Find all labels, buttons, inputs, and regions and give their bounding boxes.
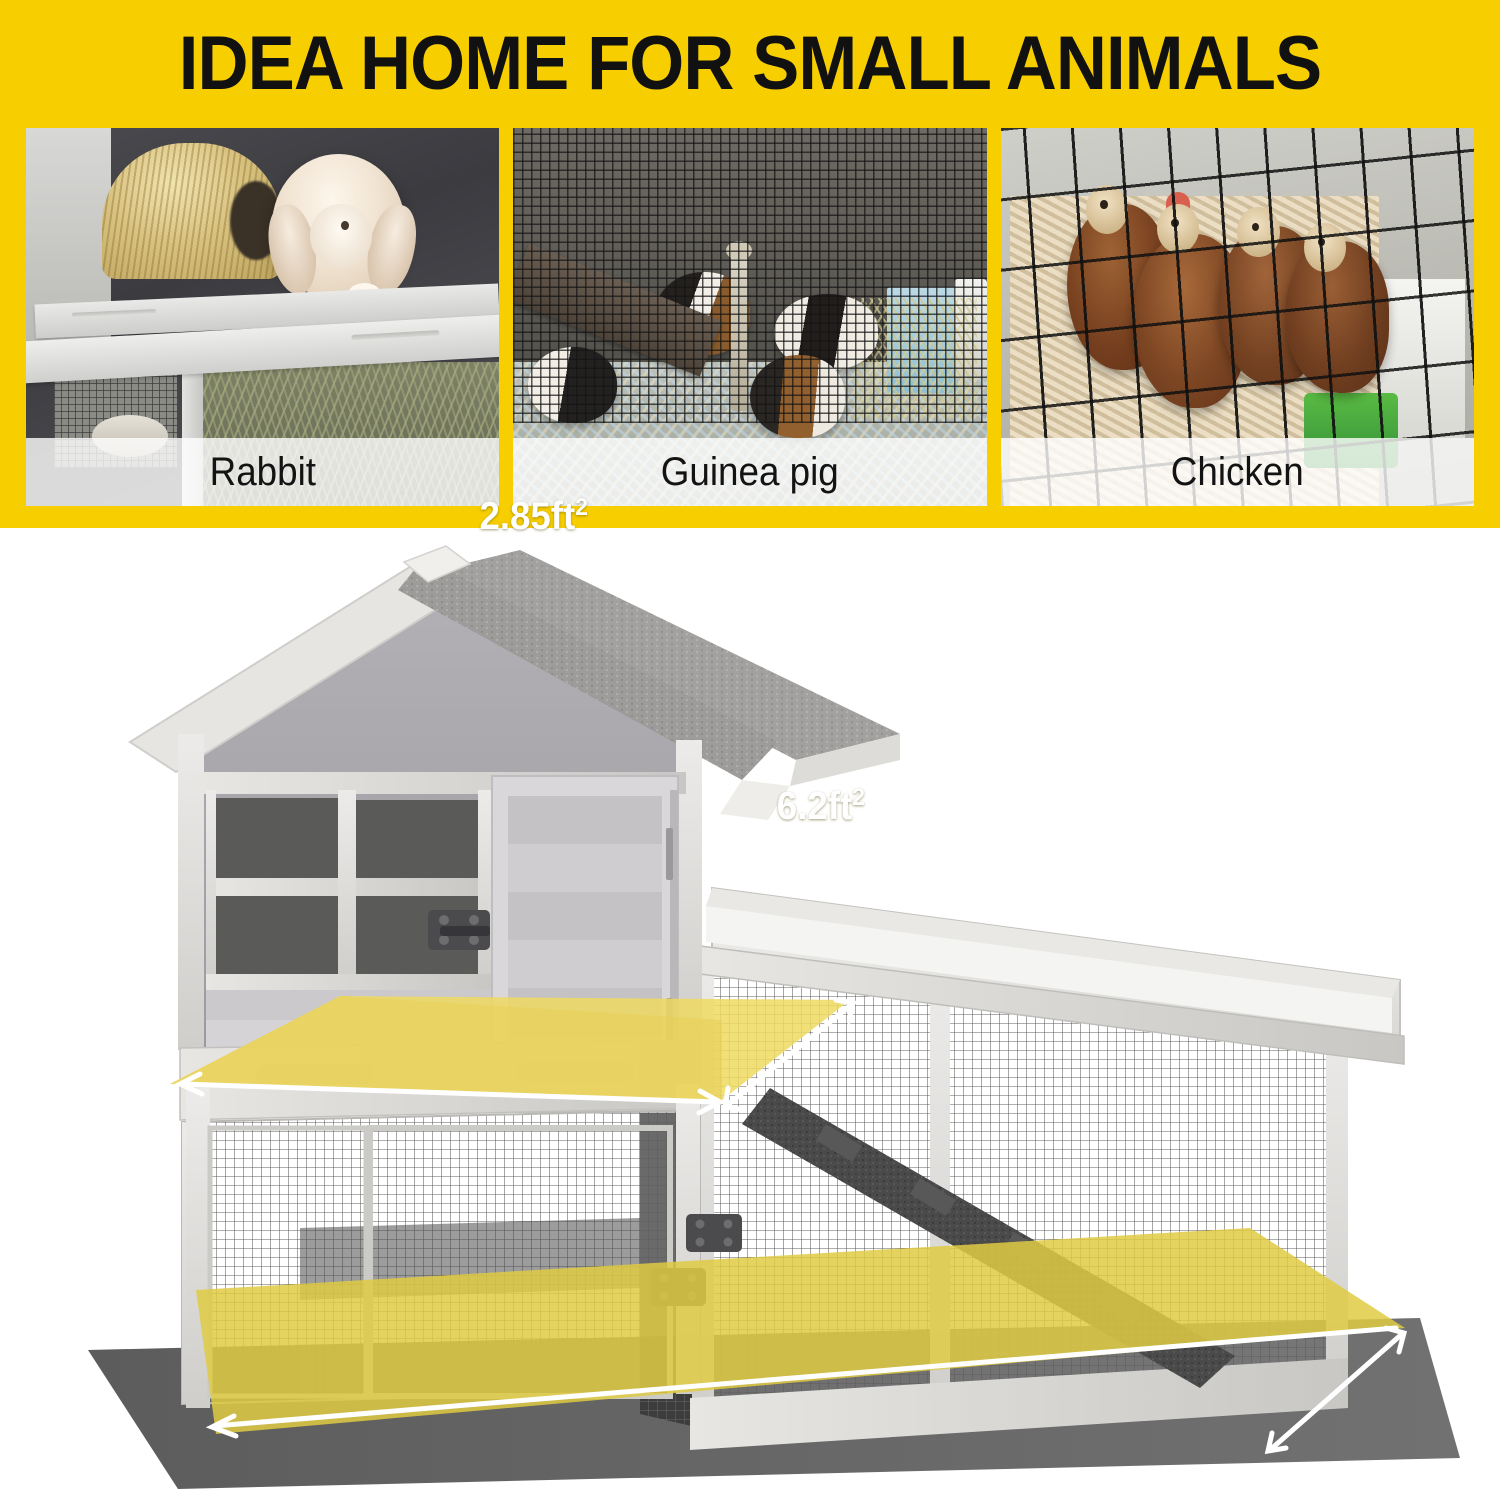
photo-panel-chicken: Chicken xyxy=(1001,128,1474,506)
panel-caption-label: Guinea pig xyxy=(661,450,839,495)
door-latch-lower[interactable] xyxy=(686,1214,742,1252)
product-photo-area: 2.85ft2 6.2ft2 xyxy=(0,528,1500,1489)
panel-caption-label: Chicken xyxy=(1171,450,1304,495)
door-latch-upper[interactable] xyxy=(428,910,490,950)
header-banner: IDEA HOME FOR SMALL ANIMALS xyxy=(0,0,1500,528)
page-title: IDEA HOME FOR SMALL ANIMALS xyxy=(53,26,1448,102)
photo-panel-rabbit: Rabbit xyxy=(26,128,499,506)
panel-caption-label: Rabbit xyxy=(209,450,315,495)
panel-caption-rabbit: Rabbit xyxy=(26,438,499,506)
photo-panel-guinea-pig: Guinea pig xyxy=(513,128,986,506)
infographic-page: IDEA HOME FOR SMALL ANIMALS xyxy=(0,0,1500,1489)
window-panes xyxy=(206,790,492,990)
animal-photo-gallery: Rabbit xyxy=(26,128,1474,506)
area-label-upper-floor: 2.85ft2 xyxy=(479,494,587,539)
panel-caption-chicken: Chicken xyxy=(1001,438,1474,506)
area-label-lower-run: 6.2ft2 xyxy=(777,784,865,829)
product-illustration xyxy=(0,528,1500,1489)
